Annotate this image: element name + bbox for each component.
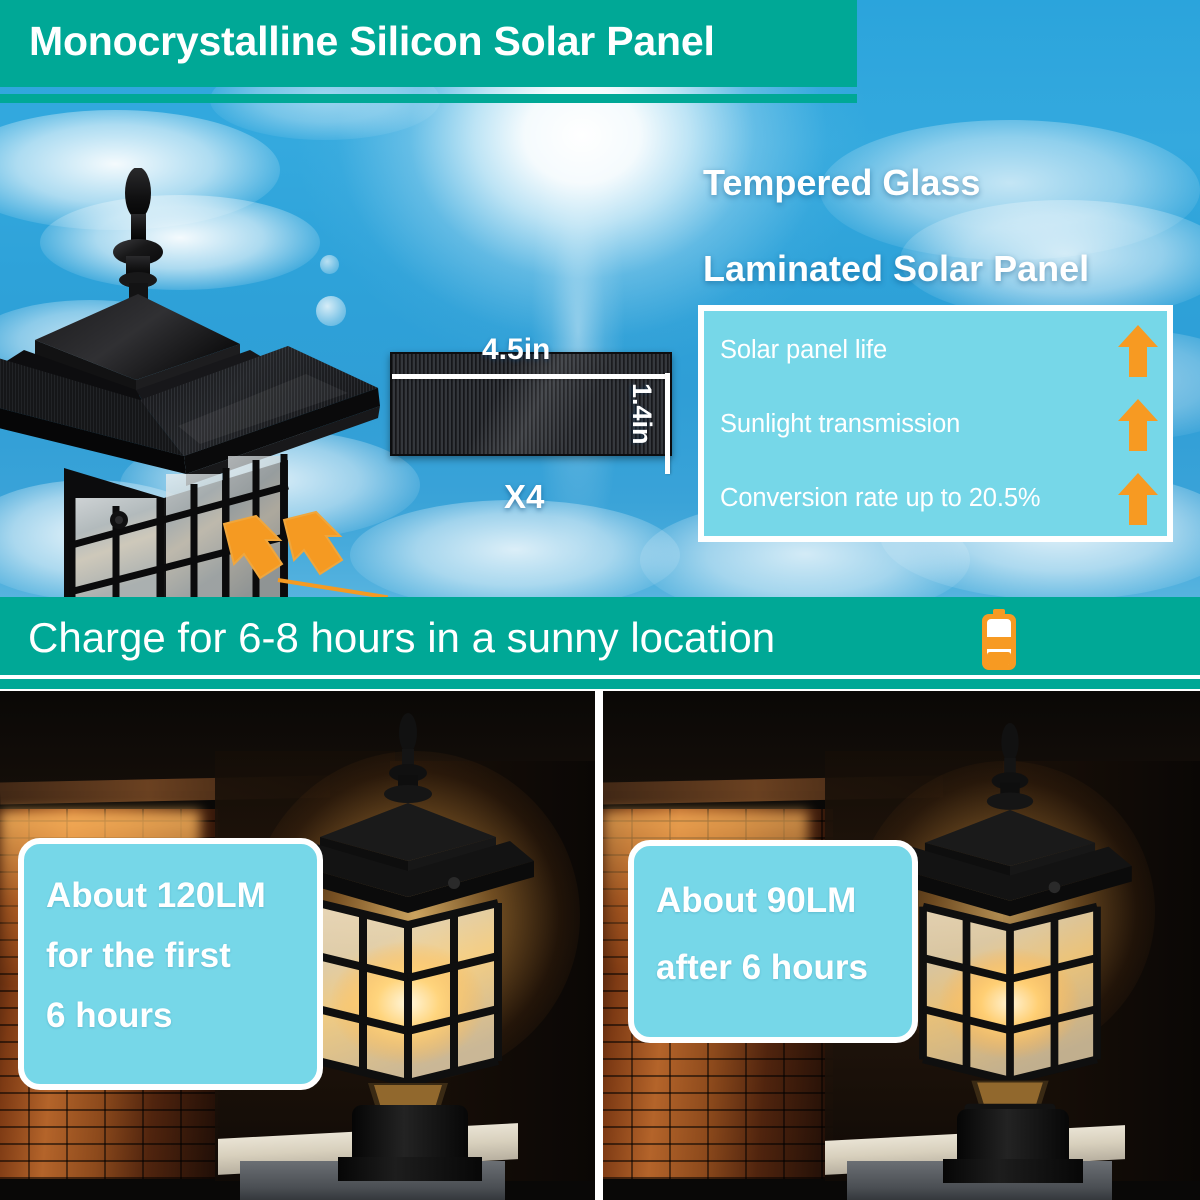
heading-laminated-solar-panel: Laminated Solar Panel <box>703 248 1089 290</box>
arrow-up-icon <box>1117 397 1159 453</box>
panel-width-label: 4.5in <box>482 333 550 367</box>
infographic-page: 4.5in 1.4in X4 Tempered Glass Laminated … <box>0 0 1200 1200</box>
feature-label-solar-panel-life: Solar panel life <box>704 336 1117 365</box>
title-banner-underline <box>0 94 857 103</box>
charge-banner-text: Charge for 6-8 hours in a sunny location <box>28 614 775 662</box>
lumen-left-line-1: About 120LM <box>46 866 295 926</box>
charge-banner-underline <box>0 679 1200 689</box>
photo-panel-divider <box>595 689 603 1200</box>
arrow-down-left-icon <box>284 512 342 574</box>
feature-label-conversion-rate: Conversion rate up to 20.5% <box>704 484 1117 513</box>
lumen-right-line-1: About 90LM <box>656 868 890 935</box>
panel-height-dimension-line <box>665 373 670 474</box>
feature-row: Sunlight transmission <box>704 385 1167 464</box>
arrow-up-icon <box>1117 471 1159 527</box>
lumen-right-line-2: after 6 hours <box>656 935 890 1002</box>
panel-width-dimension-line <box>392 374 666 379</box>
lumen-card-left: About 120LM for the first 6 hours <box>18 838 323 1090</box>
heading-tempered-glass: Tempered Glass <box>703 162 980 204</box>
arrow-up-icon <box>1117 323 1159 379</box>
feature-list-box: Solar panel life Sunlight transmission C… <box>698 305 1173 542</box>
panel-height-label: 1.4in <box>626 383 657 445</box>
panel-quantity-label: X4 <box>504 478 544 516</box>
lumen-card-right: About 90LM after 6 hours <box>628 840 918 1043</box>
page-title: Monocrystalline Silicon Solar Panel <box>29 18 715 65</box>
feature-row: Solar panel life <box>704 311 1167 390</box>
feature-row: Conversion rate up to 20.5% <box>704 459 1167 538</box>
solar-lantern-product-image <box>0 168 388 598</box>
lumen-left-line-2: for the first <box>46 926 295 986</box>
feature-label-sunlight-transmission: Sunlight transmission <box>704 410 1117 439</box>
lumen-left-line-3: 6 hours <box>46 986 295 1046</box>
battery-icon <box>980 609 1018 671</box>
